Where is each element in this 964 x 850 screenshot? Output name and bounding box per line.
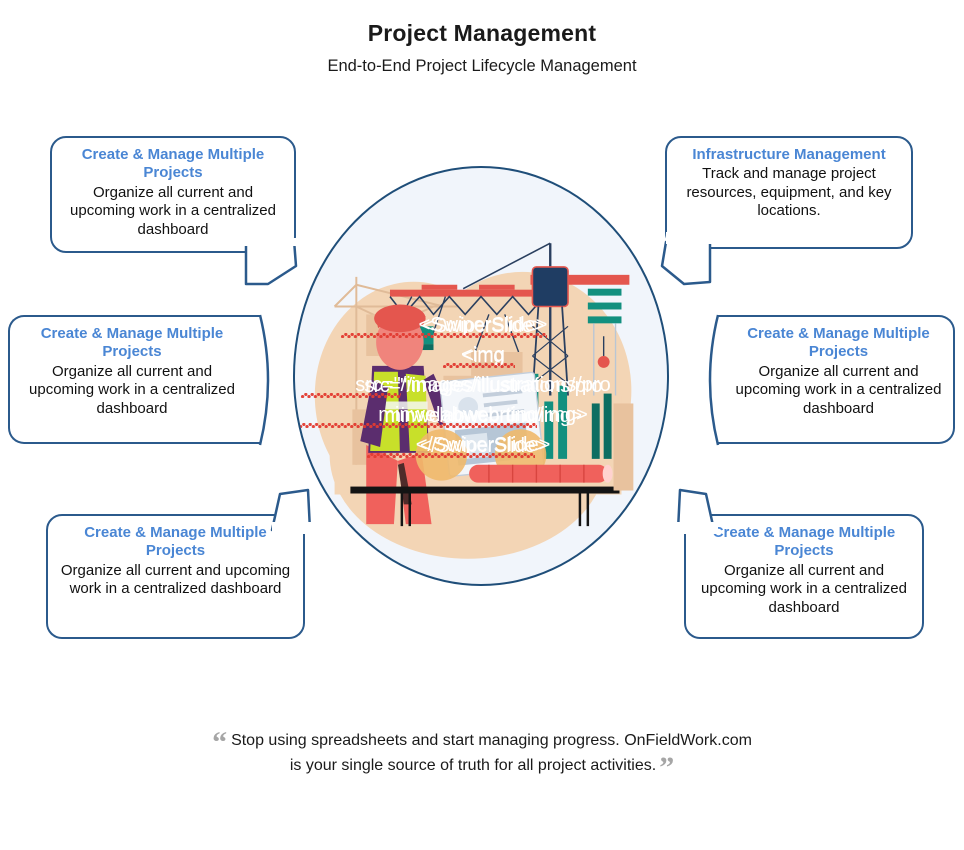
quote-close-mark: ”: [659, 751, 674, 784]
callout-body: Organize all current and upcoming work i…: [696, 562, 912, 617]
center-circle-illustration-container: <SwiperSlide> <SwiperSlide> <img <img sr…: [293, 166, 669, 586]
callout-bottom-left[interactable]: Create & Manage Multiple Projects Organi…: [46, 514, 305, 639]
quote-text-1: Stop using spreadsheets and start managi…: [231, 732, 752, 749]
page-title: Project Management: [0, 20, 964, 48]
callout-middle-right[interactable]: Create & Manage Multiple Projects Organi…: [718, 315, 955, 444]
callout-title: Create & Manage Multiple Projects: [58, 524, 293, 561]
quote-text-2: is your single source of truth for all p…: [290, 757, 656, 774]
quote-line-1: “Stop using spreadsheets and start manag…: [0, 728, 964, 753]
callout-middle-left[interactable]: Create & Manage Multiple Projects Organi…: [8, 315, 260, 444]
quote-line-2: is your single source of truth for all p…: [0, 753, 964, 778]
callout-body: Track and manage project resources, equi…: [677, 165, 901, 220]
callout-title: Create & Manage Multiple Projects: [62, 146, 284, 183]
callout-body: Organize all current and upcoming work i…: [58, 562, 293, 599]
callout-title: Create & Manage Multiple Projects: [20, 325, 244, 362]
construction-illustration: [295, 168, 667, 584]
callout-title: Create & Manage Multiple Projects: [734, 325, 943, 362]
callout-body: Organize all current and upcoming work i…: [62, 184, 284, 239]
header: Project Management End-to-End Project Li…: [0, 0, 964, 76]
page-subtitle: End-to-End Project Lifecycle Management: [0, 57, 964, 77]
quote-open-mark: “: [212, 726, 227, 759]
callout-title: Create & Manage Multiple Projects: [696, 524, 912, 561]
callout-title: Infrastructure Management: [677, 146, 901, 164]
callout-top-left[interactable]: Create & Manage Multiple Projects Organi…: [50, 136, 296, 253]
callout-bottom-right[interactable]: Create & Manage Multiple Projects Organi…: [684, 514, 924, 639]
quote-block: “Stop using spreadsheets and start manag…: [0, 728, 964, 778]
callout-body: Organize all current and upcoming work i…: [20, 363, 244, 418]
callout-body: Organize all current and upcoming work i…: [734, 363, 943, 418]
callout-top-right[interactable]: Infrastructure Management Track and mana…: [665, 136, 913, 249]
